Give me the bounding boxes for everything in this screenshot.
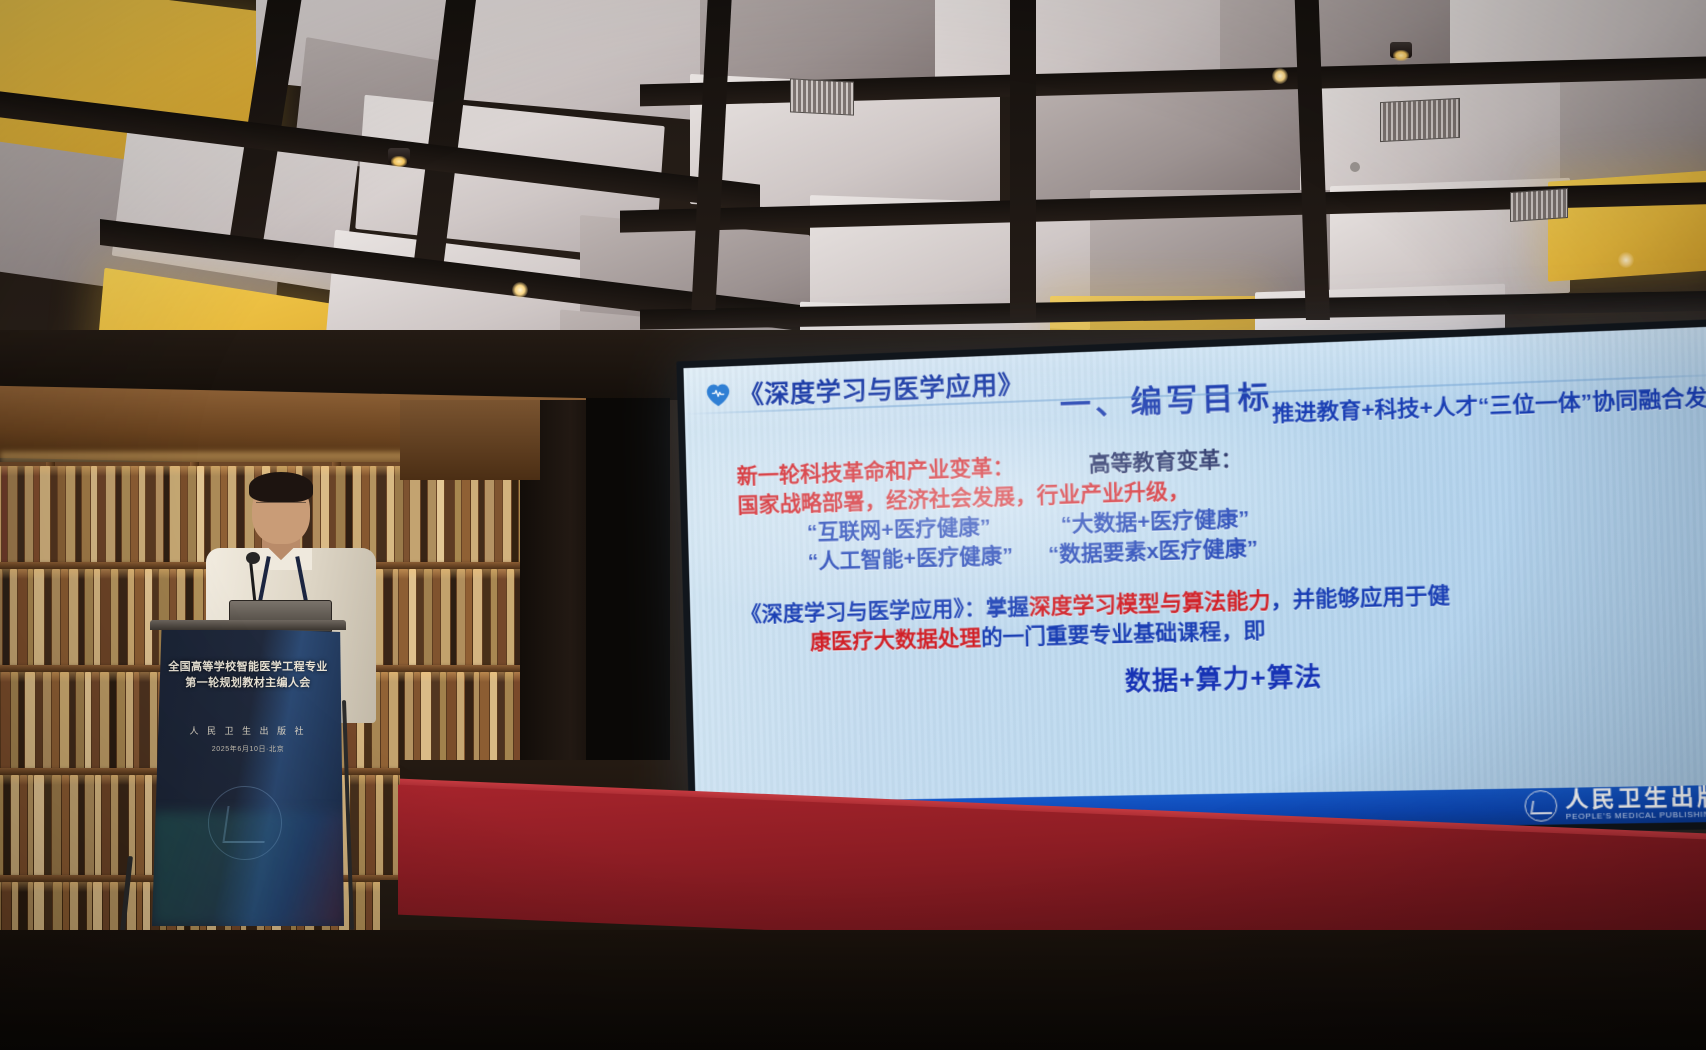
slide-line-4-b: “大数据+医疗健康” — [1060, 507, 1249, 536]
presenter-hair — [249, 472, 313, 502]
pmph-logo-icon — [1524, 790, 1558, 822]
podium-stage-light-wash — [152, 812, 344, 926]
ceiling-panel-dim — [1010, 78, 1300, 202]
wall-wood-right — [400, 400, 540, 480]
podium-line-2: 第一轮规划教材主编人会 — [152, 676, 344, 692]
ceiling-air-vent — [1380, 98, 1460, 142]
podium-line-1: 全国高等学校智能医学工程专业 — [152, 660, 344, 676]
projection-screen: 《深度学习与医学应用》 一、编写目标 推进教育+科技+人才“三位一体”协同融合发… — [683, 325, 1706, 838]
slide-line-2-b: 高等教育变革： — [1088, 448, 1243, 477]
podium: 全国高等学校智能医学工程专业 第一轮规划教材主编人会 人 民 卫 生 出 版 社… — [152, 626, 344, 926]
slide-line-7-b: 的一门重要专业基础课程，即 — [981, 619, 1266, 650]
slide-line-5-a: “人工智能+医疗健康” — [807, 544, 1013, 573]
ceiling-downlight — [1272, 68, 1288, 84]
slide-line-8-a: 数据+算力+算法 — [1124, 663, 1322, 696]
slide-line-6-a: 《深度学习与医学应用》：掌握 — [740, 595, 1029, 626]
ceiling-spotlight — [1390, 42, 1412, 58]
heart-icon — [704, 383, 731, 408]
podium-desktop — [150, 620, 346, 630]
slide-line-4-a: “互联网+医疗健康” — [807, 515, 991, 544]
publisher-name-en: PEOPLE'S MEDICAL PUBLISHING HOUSE — [1566, 808, 1706, 824]
publisher-name-cn: 人民卫生出版社 — [1565, 785, 1706, 810]
ceiling-downlight — [512, 282, 528, 298]
slide-line-5-b: “数据要素x医疗健康” — [1048, 537, 1259, 567]
slide-surface: 《深度学习与医学应用》 一、编写目标 推进教育+科技+人才“三位一体”协同融合发… — [683, 325, 1706, 838]
ceiling-downlight — [1618, 252, 1634, 268]
stage-floor-shadow — [0, 930, 1706, 1050]
publisher-logo: 人民卫生出版社 PEOPLE'S MEDICAL PUBLISHING HOUS… — [1524, 785, 1706, 823]
slide-line-6-b: 深度学习模型与算法能力 — [1029, 589, 1271, 619]
slide-line-7-a: 康医疗大数据处理 — [810, 626, 982, 654]
microphone-head-icon — [246, 552, 260, 564]
podium-date-location: 2025年6月10日·北京 — [152, 744, 344, 754]
ceiling-beam — [1010, 0, 1036, 320]
conference-room-photo: 《深度学习与医学应用》 一、编写目标 推进教育+科技+人才“三位一体”协同融合发… — [0, 0, 1706, 1050]
slide-line-6-c: ，并能够应用于健 — [1270, 584, 1450, 613]
podium-publisher: 人 民 卫 生 出 版 社 — [152, 724, 344, 737]
ceiling-air-vent — [790, 78, 854, 115]
podium-heading: 全国高等学校智能医学工程专业 第一轮规划教材主编人会 — [152, 660, 344, 692]
ceiling-spotlight — [388, 148, 410, 164]
presenter-glasses-icon — [256, 502, 306, 510]
slide-body: 推进教育+科技+人才“三位一体”协同融合发展 新一轮科技革命和产业变革：高等教育… — [716, 383, 1706, 709]
ceiling-sprinkler-icon — [1350, 162, 1360, 172]
ceiling-air-vent — [1510, 188, 1568, 222]
